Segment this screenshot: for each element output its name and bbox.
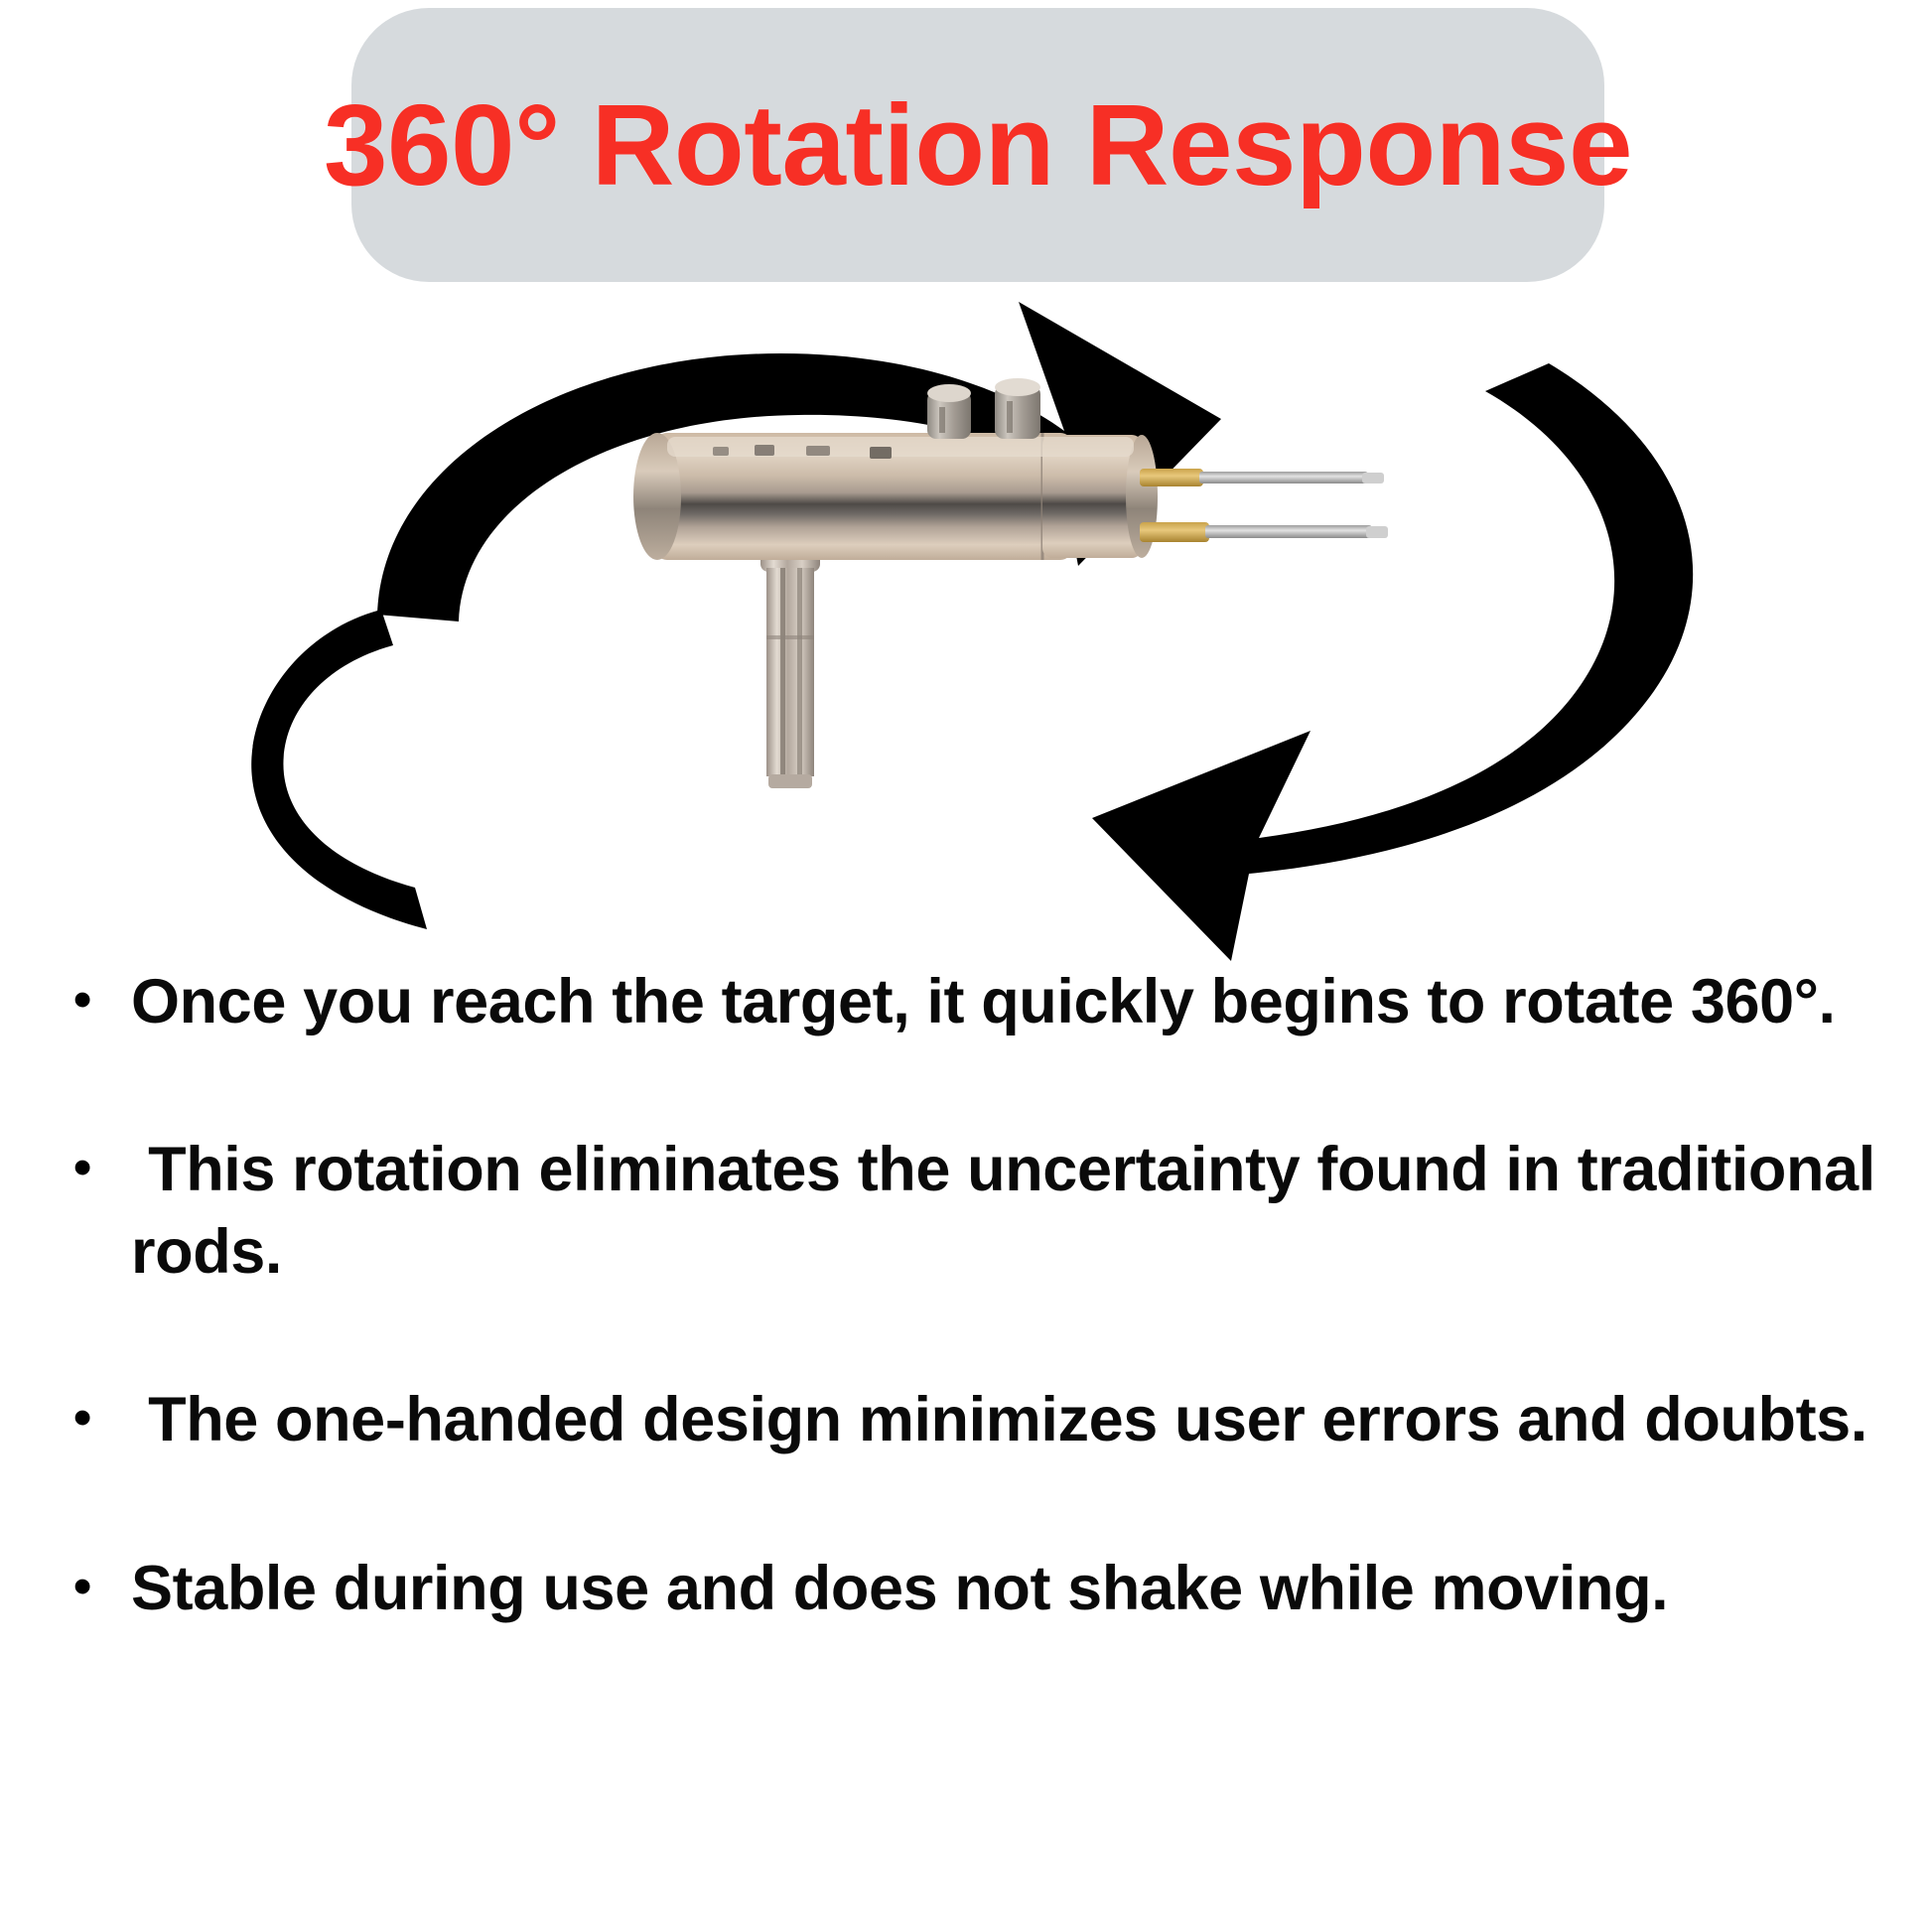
bullet-marker: •	[73, 1129, 131, 1206]
tool-knob-right	[995, 378, 1040, 439]
left-rotation-arc	[251, 610, 427, 929]
list-item: • The one-handed design minimizes user e…	[0, 1379, 1932, 1461]
tool-barrel	[633, 433, 1158, 560]
bullet-text: Once you reach the target, it quickly be…	[131, 961, 1932, 1043]
bullet-text: The one-handed design minimizes user err…	[131, 1379, 1932, 1461]
title-banner: 360° Rotation Response	[351, 8, 1604, 282]
list-item: • This rotation eliminates the uncertain…	[0, 1129, 1932, 1294]
page-title: 360° Rotation Response	[324, 87, 1632, 203]
list-item: • Once you reach the target, it quickly …	[0, 961, 1932, 1043]
tool-probe-rod-upper	[1140, 469, 1384, 486]
tool-handle	[760, 525, 820, 788]
bullet-marker: •	[73, 961, 131, 1038]
rotating-probe-tool	[633, 378, 1388, 788]
bullet-marker: •	[73, 1379, 131, 1456]
bullet-text: Stable during use and does not shake whi…	[131, 1548, 1932, 1630]
rotation-illustration-svg	[0, 282, 1932, 977]
rotation-illustration	[0, 282, 1932, 977]
bullet-marker: •	[73, 1548, 131, 1625]
feature-bullet-list: • Once you reach the target, it quickly …	[0, 961, 1932, 1630]
tool-probe-rod-lower	[1140, 522, 1388, 542]
bullet-text: This rotation eliminates the uncertainty…	[131, 1129, 1932, 1294]
list-item: • Stable during use and does not shake w…	[0, 1548, 1932, 1630]
tool-knob-left	[927, 384, 971, 439]
